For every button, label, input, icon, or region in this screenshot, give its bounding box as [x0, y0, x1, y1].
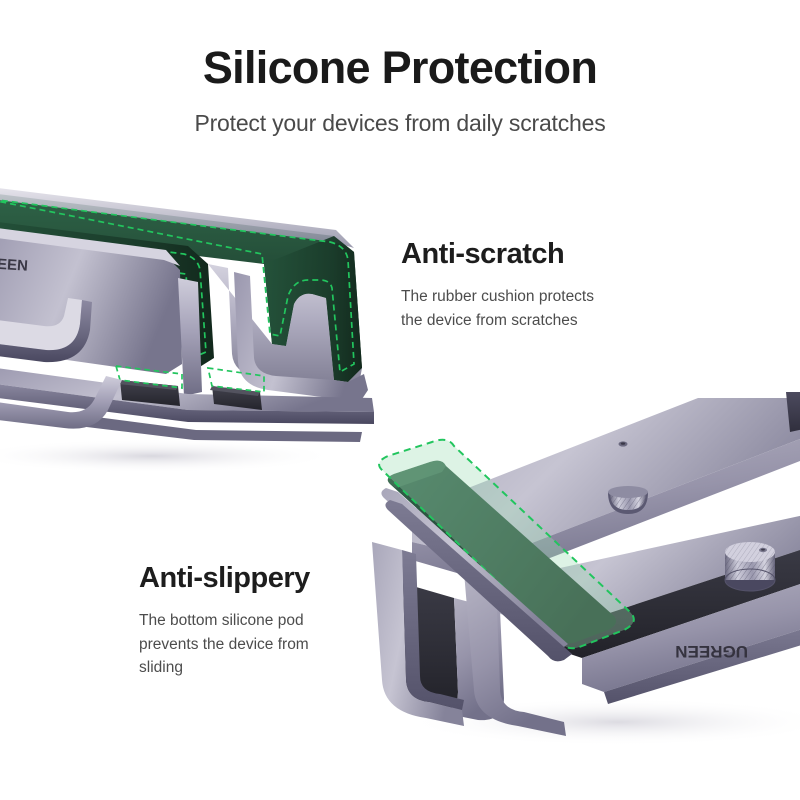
feature-anti-slippery-body: The bottom silicone pod prevents the dev… — [139, 609, 310, 680]
feature-anti-scratch-body-line-1: The rubber cushion protects — [401, 285, 594, 309]
brand-logo-upright: REEN — [0, 255, 28, 275]
product-image-stand-upright: REEN — [0, 168, 402, 478]
screw-hole-near-inner — [761, 549, 765, 551]
feature-anti-scratch-title: Anti-scratch — [401, 238, 594, 271]
feature-anti-slippery-title: Anti-slippery — [139, 562, 310, 595]
feature-anti-slippery-body-line-2: prevents the device from — [139, 633, 310, 657]
feature-anti-slippery-body-line-3: sliding — [139, 656, 310, 680]
product-shadow — [0, 439, 337, 473]
feature-anti-scratch-body: The rubber cushion protects the device f… — [401, 285, 594, 332]
product-image-stand-underside: UGREEN — [368, 392, 800, 762]
feature-anti-scratch: Anti-scratch The rubber cushion protects… — [401, 238, 594, 332]
brand-logo-underside: UGREEN — [675, 642, 748, 661]
screw-hole-far-inner — [621, 442, 625, 444]
feature-anti-slippery: Anti-slippery The bottom silicone pod pr… — [139, 562, 310, 680]
header: Silicone Protection Protect your devices… — [0, 44, 800, 137]
page-subtitle: Protect your devices from daily scratche… — [0, 110, 800, 137]
page-title: Silicone Protection — [0, 44, 800, 93]
product-marketing-banner: Silicone Protection Protect your devices… — [0, 0, 800, 800]
thumbscrew-large[interactable] — [725, 542, 775, 591]
feature-anti-slippery-body-line-1: The bottom silicone pod — [139, 609, 310, 633]
feature-anti-scratch-body-line-2: the device from scratches — [401, 309, 594, 333]
